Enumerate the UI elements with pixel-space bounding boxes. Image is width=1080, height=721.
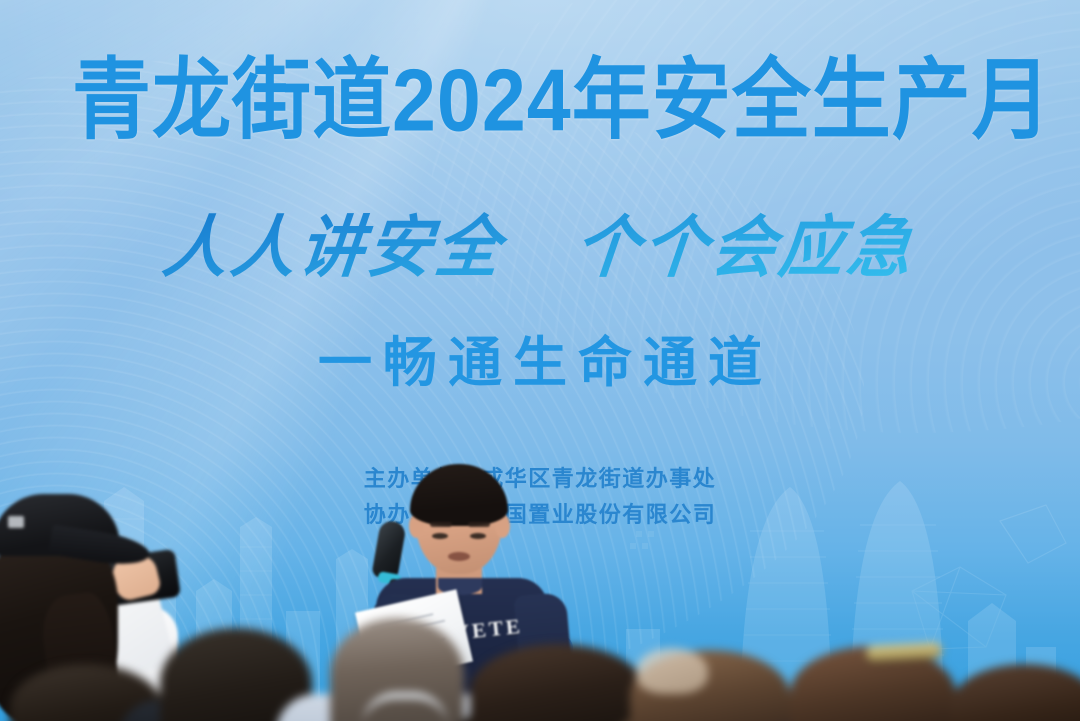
speaker-hair — [410, 464, 508, 526]
slogan-part2: 个个会应急 — [571, 208, 919, 287]
speaker-eye-left — [432, 533, 448, 539]
speaker-brow-left — [430, 522, 452, 527]
speaker-brow-right — [468, 522, 490, 527]
speaker-eye-right — [470, 533, 486, 539]
cap-logo — [8, 516, 24, 528]
banner-slogan: 人人讲安全个个会应急 — [0, 194, 1080, 291]
banner-headline: 青龙街道2024年安全生产月 — [72, 52, 1080, 148]
slogan-part1: 人人讲安全 — [159, 208, 507, 287]
banner-sub-slogan: 一畅通生命通道 — [0, 318, 1080, 397]
event-photo: 青龙街道2024年安全生产月 人人讲安全个个会应急 一畅通生命通道 主办单位：成… — [0, 0, 1080, 721]
speaker-mouth — [448, 552, 470, 561]
audience-hair-highlight — [636, 648, 708, 694]
